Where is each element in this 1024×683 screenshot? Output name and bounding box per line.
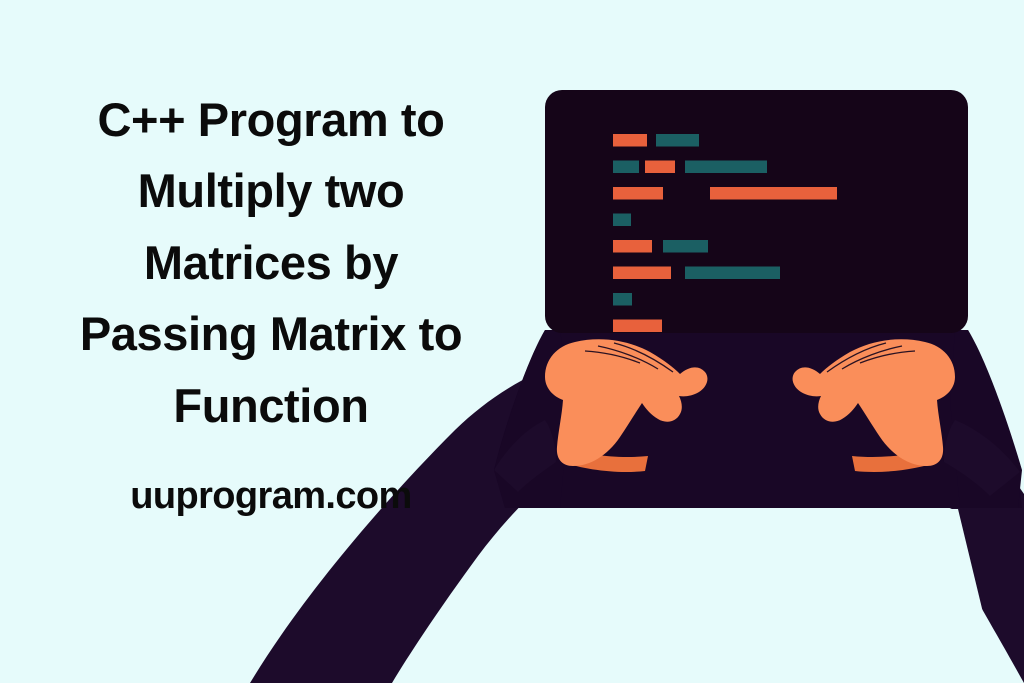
code-line-segment <box>656 134 699 147</box>
text-block: C++ Program to Multiply two Matrices by … <box>26 84 516 518</box>
desk-surface-cutout <box>555 509 1000 683</box>
code-line-segment <box>613 320 662 333</box>
code-line-segment <box>613 134 647 147</box>
code-line-segment <box>685 161 767 174</box>
code-line-segment <box>613 267 671 280</box>
code-line-segment <box>613 293 632 306</box>
site-label: uuprogram.com <box>26 475 516 518</box>
code-line-segment <box>645 161 675 174</box>
code-line-segment <box>613 214 631 227</box>
code-line-segment <box>710 187 837 200</box>
laptop-screen <box>545 90 968 333</box>
graphic-canvas: C++ Program to Multiply two Matrices by … <box>0 0 1024 683</box>
code-line-segment <box>685 267 780 280</box>
code-line-segment <box>613 187 663 200</box>
code-line-segment <box>613 240 652 253</box>
page-title: C++ Program to Multiply two Matrices by … <box>26 84 516 441</box>
code-line-segment <box>613 161 639 174</box>
code-line-segment <box>663 240 708 253</box>
